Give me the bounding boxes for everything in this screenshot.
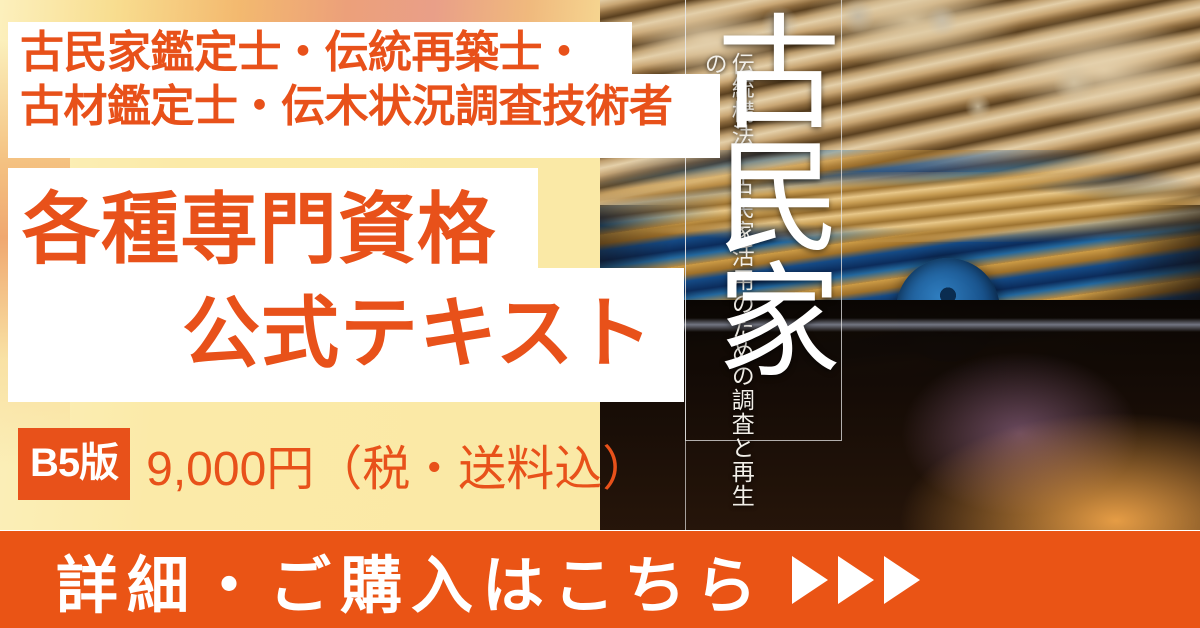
cta-bar[interactable]: 詳細・ご購入はこちら — [0, 531, 1200, 628]
main-heading-line-2: 公式テキスト — [22, 282, 702, 386]
chevron-right-icon — [792, 556, 828, 604]
qualifications-line-2: 古材鑑定士・伝木状況調査技術者 — [20, 82, 673, 131]
chevron-right-icon — [884, 556, 920, 604]
main-heading-line-1: 各種専門資格 — [22, 185, 496, 273]
chevron-right-icon — [838, 556, 874, 604]
promo-banner: 伝統構法 古民家活用のための調査と再生の 古民家 古民家鑑定士・伝統再築士・ 古… — [0, 0, 1200, 628]
format-badge: B5版 — [18, 428, 130, 500]
price-row: B5版 9,000円（税・送料込） — [18, 428, 650, 500]
qualifications-line-1: 古民家鑑定士・伝統再築士・ — [20, 28, 586, 77]
main-heading: 各種専門資格公式テキスト — [22, 178, 702, 385]
price-amount: 9,000円（税・送料込） — [146, 429, 650, 499]
cta-arrow-group — [792, 556, 920, 604]
qualifications-heading: 古民家鑑定士・伝統再築士・ 古材鑑定士・伝木状況調査技術者 — [20, 26, 720, 133]
cta-label: 詳細・ご購入はこちら — [56, 535, 766, 625]
